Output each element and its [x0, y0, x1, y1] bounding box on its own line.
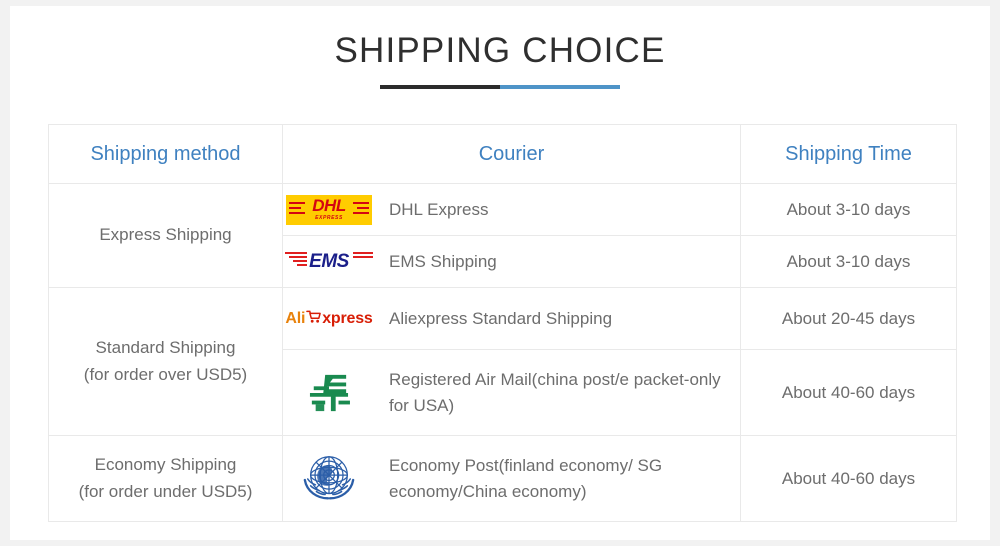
- courier-cell-economy-post: Economy Post(finland economy/ SG economy…: [283, 436, 741, 522]
- dhl-logo-word: DHL: [312, 197, 345, 214]
- aliexpress-logo-part1: Ali: [285, 311, 305, 327]
- method-cell-economy: Economy Shipping (for order under USD5): [49, 436, 283, 522]
- dhl-logo: DHL EXPRESS: [283, 195, 375, 225]
- method-note: (for order under USD5): [49, 479, 282, 505]
- time-cell: About 3-10 days: [741, 236, 957, 288]
- courier-cell-dhl: DHL EXPRESS DHL Express: [283, 184, 741, 236]
- column-header-shipping-time: Shipping Time: [741, 125, 957, 184]
- un-logo: [283, 450, 375, 508]
- courier-label: Economy Post(finland economy/ SG economy…: [389, 453, 740, 504]
- shipping-choice-card: SHIPPING CHOICE Shipping method Courier …: [10, 6, 990, 540]
- method-note: (for order over USD5): [49, 362, 282, 388]
- dhl-logo-subword: EXPRESS: [315, 216, 343, 221]
- table-header-row: Shipping method Courier Shipping Time: [49, 125, 957, 184]
- shopping-cart-icon: [306, 309, 321, 328]
- courier-cell-ems: EMS EMS Shipping: [283, 236, 741, 288]
- method-label: Standard Shipping: [49, 335, 282, 361]
- underline-dark-segment: [380, 85, 500, 89]
- column-header-courier: Courier: [283, 125, 741, 184]
- time-cell: About 40-60 days: [741, 436, 957, 522]
- aliexpress-logo-part2: xpress: [322, 311, 372, 327]
- time-cell: About 3-10 days: [741, 184, 957, 236]
- page-header: SHIPPING CHOICE: [10, 6, 990, 89]
- method-cell-express: Express Shipping: [49, 184, 283, 288]
- table-row: Express Shipping DHL EXPRESS DHL Expr: [49, 184, 957, 236]
- table-row: Economy Shipping (for order under USD5): [49, 436, 957, 522]
- ems-logo: EMS: [283, 247, 375, 277]
- courier-label: EMS Shipping: [389, 249, 497, 275]
- column-header-shipping-method: Shipping method: [49, 125, 283, 184]
- courier-cell-aliexpress: Ali xpr: [283, 288, 741, 350]
- title-underline: [380, 85, 620, 89]
- courier-cell-china-post: Registered Air Mail(china post/e packet-…: [283, 350, 741, 436]
- method-label: Express Shipping: [49, 222, 282, 248]
- china-post-logo: [283, 373, 375, 413]
- method-cell-standard: Standard Shipping (for order over USD5): [49, 288, 283, 436]
- time-cell: About 40-60 days: [741, 350, 957, 436]
- page-title: SHIPPING CHOICE: [10, 32, 990, 71]
- courier-label: DHL Express: [389, 197, 489, 223]
- method-label: Economy Shipping: [49, 452, 282, 478]
- shipping-table: Shipping method Courier Shipping Time Ex…: [48, 124, 957, 522]
- courier-label: Registered Air Mail(china post/e packet-…: [389, 367, 740, 418]
- time-cell: About 20-45 days: [741, 288, 957, 350]
- ems-logo-word: EMS: [309, 252, 349, 271]
- table-row: Standard Shipping (for order over USD5) …: [49, 288, 957, 350]
- aliexpress-logo: Ali xpr: [283, 309, 375, 328]
- underline-blue-segment: [500, 85, 620, 89]
- courier-label: Aliexpress Standard Shipping: [389, 306, 612, 332]
